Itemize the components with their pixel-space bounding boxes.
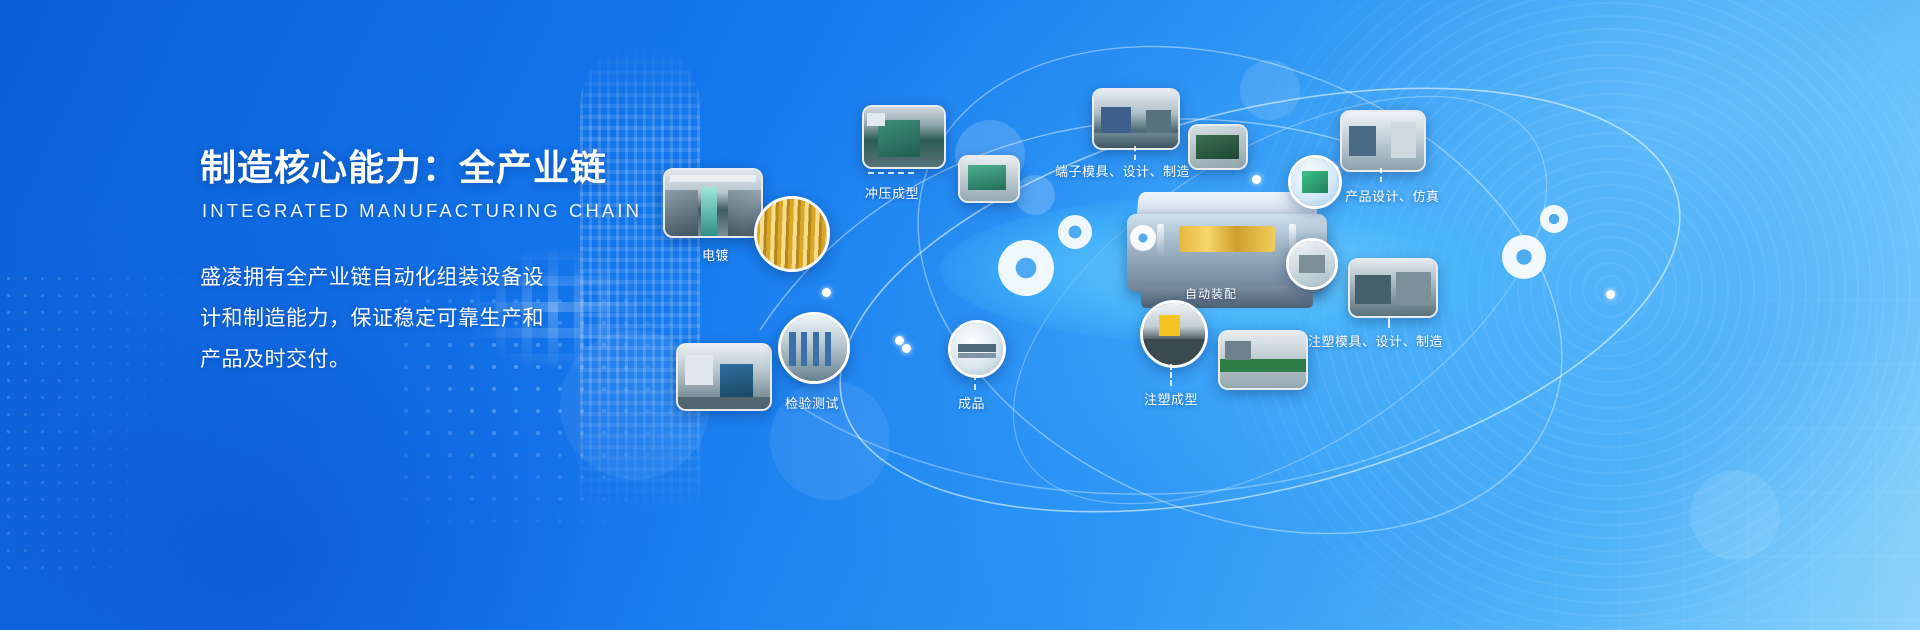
label-finished-product: 成品 [958,393,985,412]
center-label-automatic-assembly: 自动装配 [1185,285,1237,302]
dot-grid-decoration-left [0,270,200,570]
description-line: 盛凌拥有全产业链自动化组装设备设 [200,258,630,299]
connector-dot [902,344,911,353]
label-injection-molding: 注塑成型 [1144,389,1198,408]
connector-dot [1252,175,1261,184]
injection-molding-photo [1140,300,1208,368]
inspection-photo [676,343,772,411]
connector-dot [822,288,831,297]
connector-dash [1380,168,1382,182]
machine-pillar [1157,224,1164,258]
connector-dash [1134,146,1136,160]
test-rack-photo [778,312,850,384]
gear-icon [1058,215,1092,249]
molding-line-photo [1218,330,1308,390]
terminal-mold-photo [1092,88,1180,150]
connector-dot [895,336,904,345]
pcb-board-photo [1188,124,1248,170]
connector-dash [1388,316,1390,328]
label-inspection-test: 检验测试 [785,393,839,412]
3d-model-icon [1288,155,1342,209]
product-design-photo [1340,110,1426,172]
connector-dash [868,172,914,174]
description-line: 产品及时交付。 [200,340,630,381]
connector-dash [974,374,976,390]
finished-product-photo [948,320,1006,378]
mold-part-icon [1286,238,1338,290]
description-text: 盛凌拥有全产业链自动化组装设备设 计和制造能力，保证稳定可靠生产和 产品及时交付… [200,258,630,381]
headline-block: 制造核心能力：全产业链 INTEGRATED MANUFACTURING CHA… [200,146,630,381]
label-stamping-forming: 冲压成型 [865,183,919,202]
gear-icon [1540,205,1568,233]
label-electroplating: 电镀 [702,245,729,264]
connector-dot [1606,290,1615,299]
connector-dash [1170,364,1172,386]
injection-mold-photo [1348,258,1438,318]
machine-core [1179,226,1275,252]
gear-icon [998,240,1054,296]
coil-photo [754,196,830,272]
manufacturing-chain-diagram: 自动装配 电镀 [640,0,1920,630]
stamping-photo [862,105,946,169]
electroplating-photo [663,168,763,238]
page-title: 制造核心能力：全产业链 [200,146,630,189]
manufacturing-capability-banner: 制造核心能力：全产业链 INTEGRATED MANUFACTURING CHA… [0,0,1920,630]
label-product-design: 产品设计、仿真 [1345,186,1440,205]
stamping-machine-photo [958,155,1020,203]
description-line: 计和制造能力，保证稳定可靠生产和 [200,299,630,340]
gear-icon [1130,225,1156,251]
page-subtitle: INTEGRATED MANUFACTURING CHAIN [202,200,630,222]
label-terminal-mold: 端子模具、设计、制造 [1055,161,1190,180]
label-injection-mold: 注塑模具、设计、制造 [1308,331,1443,350]
gear-icon [1502,235,1546,279]
